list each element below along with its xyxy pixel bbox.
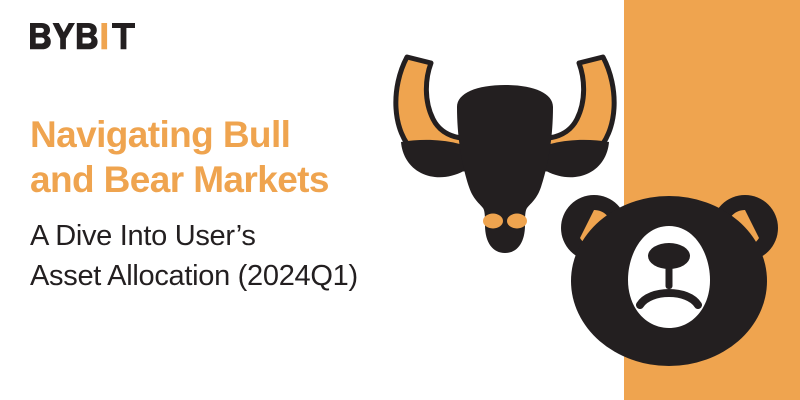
bear-nose-icon [648,243,690,269]
logo-accent-bar [101,23,107,49]
subtitle-line-2: Asset Allocation (2024Q1) [30,256,450,296]
bybit-logo[interactable] [30,20,142,56]
bybit-wordmark-icon [30,23,142,53]
bear-nose-bridge [666,266,673,289]
banner-root: Navigating Bull and Bear Markets A Dive … [0,0,800,400]
bull-face-shape [457,85,553,253]
bull-right-nostril-icon [507,214,527,229]
bull-left-nostril-icon [483,214,503,229]
bear-head-illustration [552,188,787,368]
